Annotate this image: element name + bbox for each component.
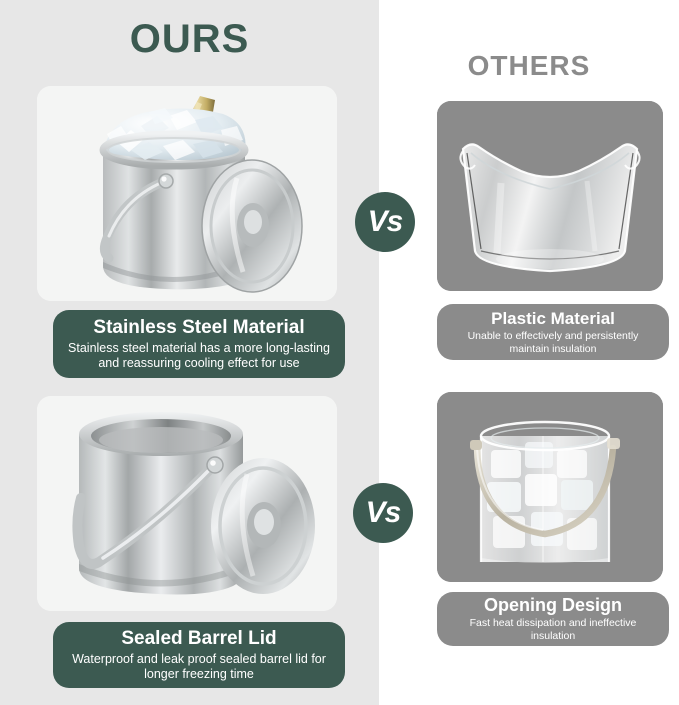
clear-acrylic-open-ice-bucket-with-ice-icon (437, 392, 663, 582)
ours-label-2: Sealed Barrel Lid Waterproof and leak pr… (53, 622, 345, 688)
others-product-image-2 (437, 392, 663, 582)
others-label-1-title: Plastic Material (491, 309, 615, 328)
others-product-image-1 (437, 101, 663, 291)
vs-badge-2: Vs (353, 483, 413, 543)
others-label-1: Plastic Material Unable to effectively a… (437, 304, 669, 360)
ours-label-2-title: Sealed Barrel Lid (121, 628, 276, 649)
others-heading: OTHERS (379, 50, 679, 82)
ours-label-1: Stainless Steel Material Stainless steel… (53, 310, 345, 378)
ours-label-2-subtitle: Waterproof and leak proof sealed barrel … (63, 652, 335, 682)
stainless-steel-ice-bucket-with-ice-and-bottle-icon (37, 86, 337, 301)
others-label-2-subtitle: Fast heat dissipation and ineffective in… (447, 617, 659, 642)
others-label-1-subtitle: Unable to effectively and persistently m… (447, 330, 659, 355)
ours-product-image-1 (37, 86, 337, 301)
vs-badge-1: Vs (355, 192, 415, 252)
others-label-2: Opening Design Fast heat dissipation and… (437, 592, 669, 646)
stainless-steel-ice-bucket-with-sealed-lid-icon (37, 396, 337, 611)
comparison-infographic: OURS OTHERS (0, 0, 679, 705)
ours-label-1-subtitle: Stainless steel material has a more long… (63, 341, 335, 371)
others-label-2-title: Opening Design (484, 595, 622, 615)
ours-product-image-2 (37, 396, 337, 611)
clear-plastic-boat-shaped-ice-bucket-icon (437, 101, 663, 291)
ours-heading: OURS (0, 17, 379, 62)
ours-label-1-title: Stainless Steel Material (93, 317, 304, 338)
